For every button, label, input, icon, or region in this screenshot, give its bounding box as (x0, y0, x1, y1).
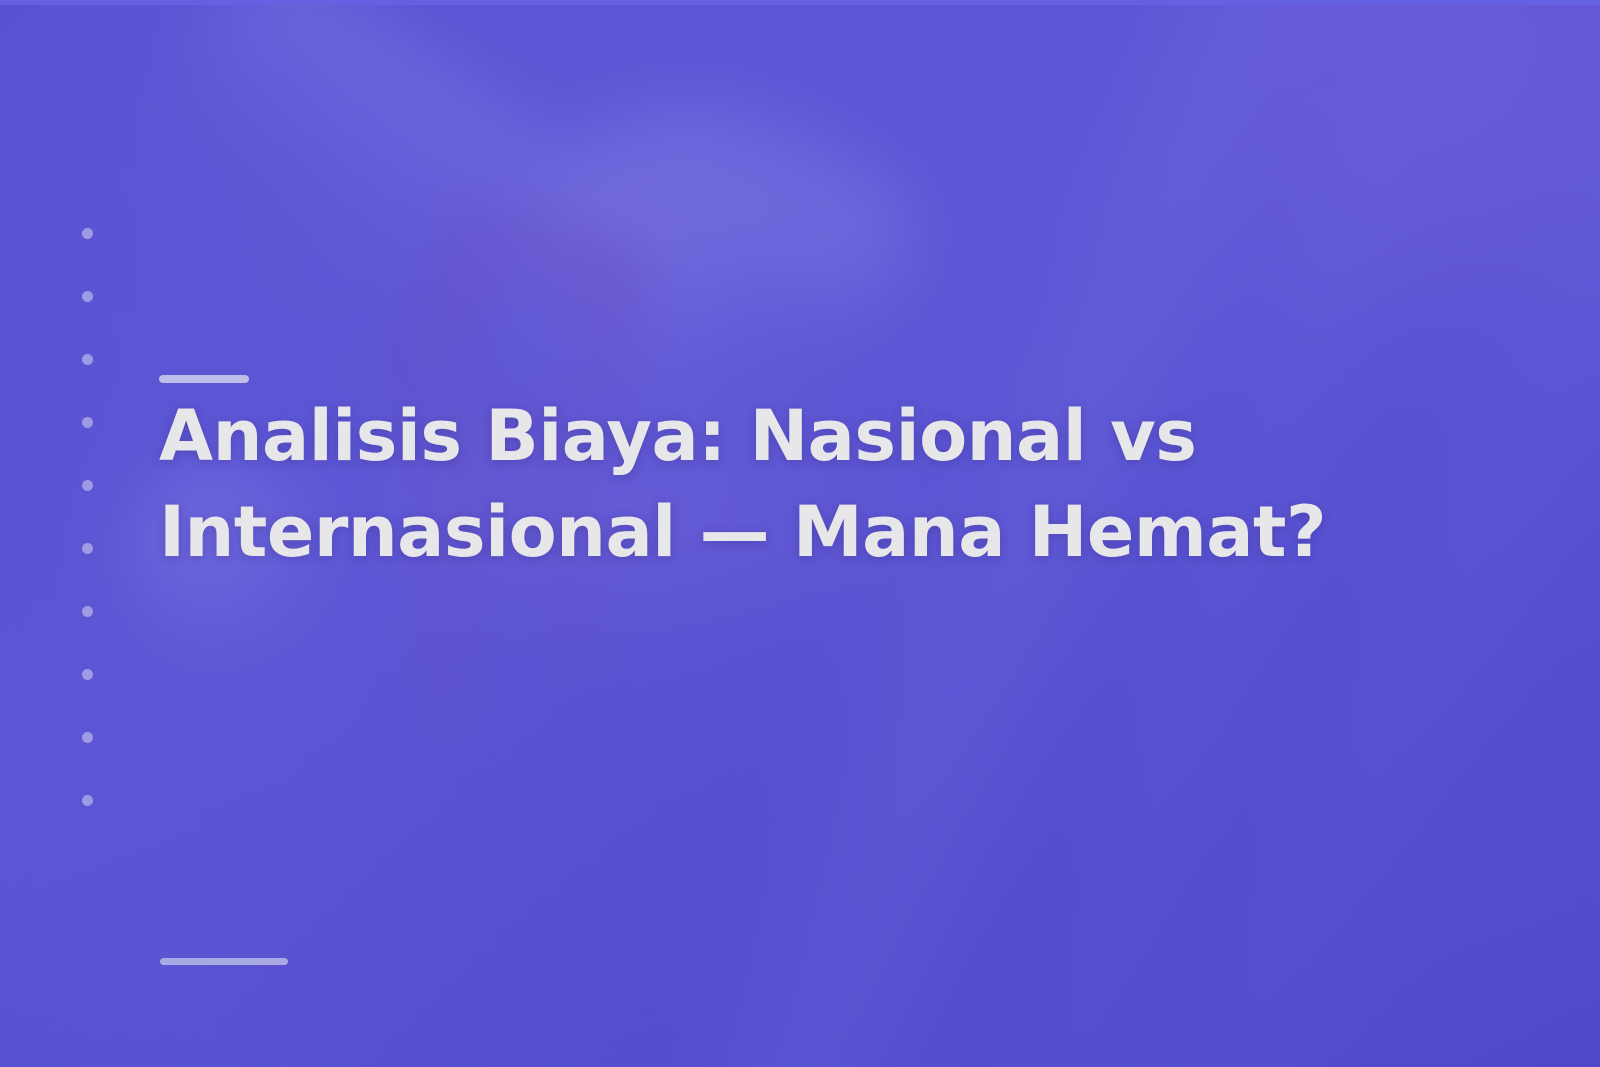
progress-dot[interactable] (82, 480, 93, 491)
page-title: Analisis Biaya: Nasional vs Internasiona… (159, 388, 1399, 580)
progress-dot[interactable] (82, 354, 93, 365)
progress-dot[interactable] (82, 417, 93, 428)
slide-progress-dot-rail (82, 228, 96, 806)
title-accent-bar (159, 375, 249, 383)
bottom-divider-rule (160, 958, 288, 965)
progress-dot[interactable] (82, 795, 93, 806)
progress-dot[interactable] (82, 291, 93, 302)
progress-dot[interactable] (82, 732, 93, 743)
title-slide: Analisis Biaya: Nasional vs Internasiona… (0, 0, 1600, 1067)
progress-dot[interactable] (82, 669, 93, 680)
progress-dot[interactable] (82, 543, 93, 554)
progress-dot[interactable] (82, 228, 93, 239)
progress-dot[interactable] (82, 606, 93, 617)
slide-content: Analisis Biaya: Nasional vs Internasiona… (159, 0, 1419, 1067)
